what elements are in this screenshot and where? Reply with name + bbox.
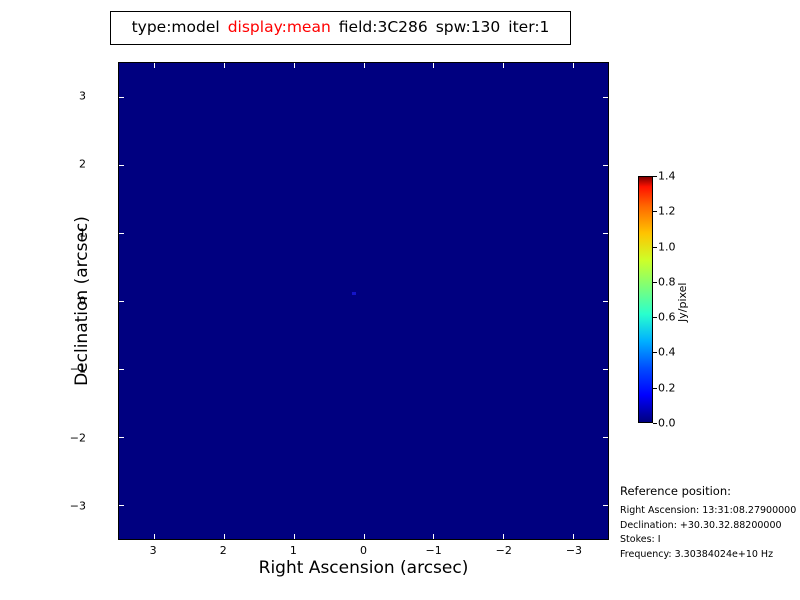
x-tick (294, 534, 295, 539)
colorbar (638, 176, 653, 423)
reference-position-line: Stokes: I (620, 533, 800, 548)
y-tick (119, 301, 124, 302)
x-tick (503, 534, 504, 539)
y-tick (119, 437, 124, 438)
reference-position-lines: Right Ascension: 13:31:08.27900000Declin… (620, 504, 800, 563)
x-tick (294, 63, 295, 68)
colorbar-tick (653, 176, 657, 177)
x-tick-label: 3 (150, 544, 157, 557)
y-tick (603, 233, 608, 234)
x-tick-label: 0 (360, 544, 367, 557)
colorbar-tick (653, 423, 657, 424)
colorbar-tick (653, 352, 657, 353)
colorbar-tick-label: 0.4 (658, 346, 676, 359)
reference-position-line: Frequency: 3.30384024e+10 Hz (620, 548, 800, 563)
x-tick (154, 63, 155, 68)
reference-position-line: Declination: +30.30.32.88200000 (620, 519, 800, 534)
y-tick (603, 97, 608, 98)
y-tick (119, 233, 124, 234)
title-segment-display: display:mean (224, 20, 335, 36)
y-tick (119, 165, 124, 166)
colorbar-tick (653, 388, 657, 389)
x-tick (573, 63, 574, 68)
x-tick-label: −2 (496, 544, 512, 557)
x-tick (433, 63, 434, 68)
colorbar-tick-label: 0.8 (658, 275, 676, 288)
reference-position-heading: Reference position: (620, 484, 800, 498)
point-source-marker (352, 292, 356, 295)
title-segment-iter: iter:1 (504, 20, 553, 36)
y-axis-label: Declination (arcsec) (72, 62, 92, 540)
x-tick (154, 534, 155, 539)
y-tick (119, 369, 124, 370)
x-tick-label: 1 (290, 544, 297, 557)
y-tick (603, 437, 608, 438)
plot-title-box: type:model display:mean field:3C286 spw:… (110, 11, 571, 45)
x-tick (503, 63, 504, 68)
title-segment-spw: spw:130 (432, 20, 505, 36)
x-tick (433, 534, 434, 539)
y-tick (603, 369, 608, 370)
colorbar-tick-label: 1.2 (658, 205, 676, 218)
x-axis-label: Right Ascension (arcsec) (118, 558, 609, 578)
colorbar-gradient (638, 176, 653, 423)
x-tick (364, 534, 365, 539)
y-tick (119, 505, 124, 506)
x-tick-label: −1 (426, 544, 442, 557)
colorbar-tick-label: 1.4 (658, 170, 676, 183)
reference-position-line: Right Ascension: 13:31:08.27900000 (620, 504, 800, 519)
y-tick (119, 97, 124, 98)
x-tick (224, 63, 225, 68)
x-tick-label: 2 (220, 544, 227, 557)
colorbar-unit-label: Jy/pixel (676, 283, 689, 323)
colorbar-tick-label: 0.0 (658, 417, 676, 430)
x-tick (224, 534, 225, 539)
colorbar-tick (653, 247, 657, 248)
x-tick-label: −3 (566, 544, 582, 557)
colorbar-tick (653, 282, 657, 283)
y-tick (603, 505, 608, 506)
colorbar-tick-label: 0.6 (658, 311, 676, 324)
y-tick (603, 301, 608, 302)
colorbar-tick (653, 211, 657, 212)
colorbar-tick (653, 317, 657, 318)
title-segment-type: type:model (128, 20, 224, 36)
x-tick (364, 63, 365, 68)
sky-image-axes (118, 62, 609, 540)
title-segment-field: field:3C286 (335, 20, 432, 36)
colorbar-tick-label: 0.2 (658, 381, 676, 394)
colorbar-tick-label: 1.0 (658, 240, 676, 253)
x-tick (573, 534, 574, 539)
y-tick (603, 165, 608, 166)
sky-image-raster (119, 63, 608, 539)
reference-position-block: Reference position: Right Ascension: 13:… (620, 484, 800, 563)
